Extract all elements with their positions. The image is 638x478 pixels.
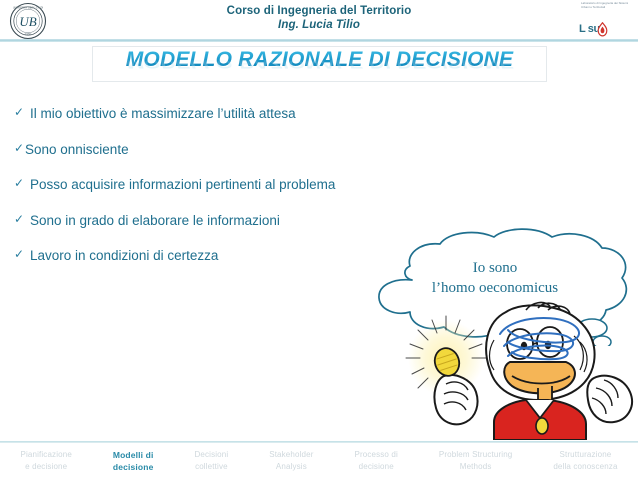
- slide-canvas: UB 1966 UNIVERSITA' DEGLI STUDI Corso di…: [0, 0, 638, 478]
- thought-line-1: Io sono: [352, 258, 638, 278]
- svg-text:1966: 1966: [25, 32, 31, 36]
- footer-item-line2: e decisione: [1, 461, 91, 473]
- footer-item-line1: Strutturazione: [534, 449, 637, 461]
- list-item-label: Sono onnisciente: [25, 141, 129, 159]
- list-item-label: Lavoro in condizioni di certezza: [30, 247, 218, 265]
- flame-icon: [597, 22, 608, 37]
- list-item-label: Posso acquisire informazioni pertinenti …: [30, 176, 335, 194]
- footer-item-line1: Pianificazione: [1, 449, 91, 461]
- slide-header: UB 1966 UNIVERSITA' DEGLI STUDI Corso di…: [0, 0, 638, 40]
- checkmark-icon: ✓: [14, 247, 30, 263]
- lisut-lab-logo: Laboratorio di Ingegneria dei Sistemi Ur…: [577, 1, 635, 39]
- instructor-name: Ing. Lucia Tilio: [0, 18, 638, 32]
- checkmark-icon: ✓: [14, 105, 30, 121]
- footer-item-line2: della conoscenza: [534, 461, 637, 473]
- footer-nav: Pianificazione e decisione Modelli di de…: [0, 449, 638, 478]
- footer-item-line2: decisione: [93, 461, 173, 473]
- list-item-label: Il mio obiettivo è massimizzare l’utilit…: [30, 105, 296, 123]
- header-divider: [0, 39, 638, 42]
- list-item: ✓ Posso acquisire informazioni pertinent…: [14, 176, 484, 194]
- course-title: Corso di Ingegneria del Territorio: [0, 4, 638, 18]
- footer-item-line1: Stakeholder: [250, 449, 333, 461]
- checkmark-icon: ✓: [14, 176, 30, 192]
- checkmark-icon: ✓: [14, 141, 25, 157]
- checkmark-icon: ✓: [14, 212, 30, 228]
- footer-item-decisioni-collettive[interactable]: Decisioni collettive: [174, 449, 249, 472]
- footer-item-processo-di-decisione[interactable]: Processo di decisione: [334, 449, 418, 472]
- footer-item-line1: Decisioni: [175, 449, 248, 461]
- list-item: ✓ Il mio obiettivo è massimizzare l’util…: [14, 105, 484, 123]
- footer-item-line2: Methods: [419, 461, 531, 473]
- footer-divider: [0, 441, 638, 443]
- footer-item-line1: Problem Structuring: [419, 449, 531, 461]
- lisut-logo-caption: Laboratorio di Ingegneria dei Sistemi Ur…: [577, 1, 635, 9]
- footer-item-line2: decisione: [335, 461, 417, 473]
- footer-item-line1: Modelli di: [93, 449, 173, 461]
- footer-item-line1: Processo di: [335, 449, 417, 461]
- header-title-block: Corso di Ingegneria del Territorio Ing. …: [0, 4, 638, 33]
- list-item: ✓ Sono in grado di elaborare le informaz…: [14, 212, 484, 230]
- thought-bubble-text: Io sono l’homo oeconomicus: [352, 258, 638, 299]
- footer-item-modelli-di-decisione[interactable]: Modelli di decisione: [92, 449, 174, 474]
- footer-item-strutturazione-della-conoscenza[interactable]: Strutturazione della conoscenza: [533, 449, 638, 472]
- footer-item-problem-structuring-methods[interactable]: Problem Structuring Methods: [418, 449, 532, 472]
- footer-item-pianificazione[interactable]: Pianificazione e decisione: [0, 449, 92, 472]
- list-item: ✓ Sono onnisciente: [14, 141, 484, 159]
- footer-item-line2: collettive: [175, 461, 248, 473]
- scrooge-mcduck-illustration: [398, 300, 638, 440]
- page-title: MODELLO RAZIONALE DI DECISIONE: [92, 48, 547, 72]
- footer-item-line2: Analysis: [250, 461, 333, 473]
- footer-item-stakeholder-analysis[interactable]: Stakeholder Analysis: [249, 449, 334, 472]
- list-item-label: Sono in grado di elaborare le informazio…: [30, 212, 280, 230]
- thought-line-2: l’homo oeconomicus: [352, 278, 638, 298]
